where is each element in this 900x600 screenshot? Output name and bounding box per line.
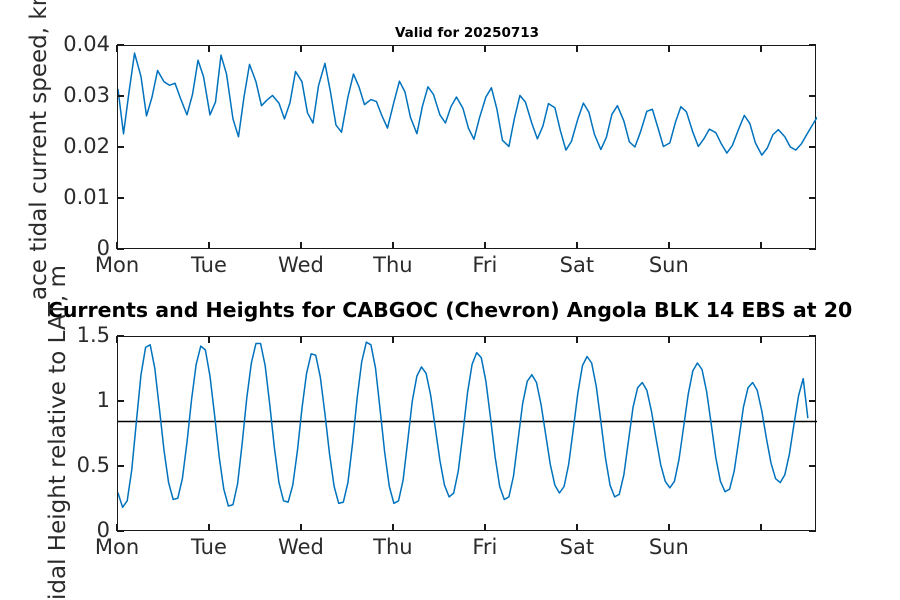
y-tick-label: 0.03: [63, 85, 110, 106]
y-tick-mark: [809, 197, 816, 199]
x-tick-mark: [760, 45, 762, 52]
x-tick-mark: [392, 524, 394, 531]
bottom-chart-plot-area: [117, 336, 816, 531]
x-tick-label: Wed: [251, 255, 351, 276]
y-tick-label: 0.02: [63, 136, 110, 157]
x-tick-label: Tue: [159, 537, 259, 558]
x-tick-mark: [300, 336, 302, 343]
x-tick-label: Wed: [251, 537, 351, 558]
x-tick-mark: [484, 242, 486, 249]
y-tick-mark: [117, 335, 124, 337]
x-tick-label: Sat: [527, 255, 627, 276]
x-tick-mark: [208, 336, 210, 343]
y-tick-mark: [117, 44, 124, 46]
y-tick-mark: [117, 197, 124, 199]
x-tick-mark: [208, 45, 210, 52]
x-tick-mark: [392, 242, 394, 249]
y-tick-mark: [117, 400, 124, 402]
y-tick-mark: [117, 95, 124, 97]
y-tick-mark: [117, 530, 124, 532]
x-tick-label: Thu: [343, 255, 443, 276]
top-chart-plot-area: [117, 45, 816, 249]
x-tick-mark: [484, 45, 486, 52]
x-tick-mark: [576, 336, 578, 343]
x-tick-mark: [300, 524, 302, 531]
x-tick-label: Thu: [343, 537, 443, 558]
x-tick-mark: [760, 336, 762, 343]
x-tick-mark: [392, 336, 394, 343]
x-tick-mark: [668, 524, 670, 531]
x-tick-mark: [484, 524, 486, 531]
x-tick-mark: [392, 45, 394, 52]
x-tick-label: Sun: [619, 537, 719, 558]
y-tick-mark: [809, 95, 816, 97]
y-tick-mark: [809, 44, 816, 46]
y-tick-mark: [809, 465, 816, 467]
y-tick-mark: [809, 530, 816, 532]
y-tick-mark: [117, 248, 124, 250]
y-tick-mark: [117, 465, 124, 467]
y-tick-mark: [809, 248, 816, 250]
x-tick-mark: [300, 45, 302, 52]
x-tick-label: Mon: [67, 537, 167, 558]
figure-canvas: ace tidal current speed, kn Valid for 20…: [0, 0, 900, 600]
x-tick-label: Fri: [435, 537, 535, 558]
x-tick-mark: [116, 336, 118, 343]
x-tick-label: Tue: [159, 255, 259, 276]
figure-main-title: Currents and Heights for CABGOC (Chevron…: [48, 300, 852, 321]
x-tick-mark: [208, 524, 210, 531]
x-tick-label: Sat: [527, 537, 627, 558]
top-chart-series-line: [118, 46, 817, 250]
x-tick-mark: [668, 242, 670, 249]
x-tick-mark: [576, 242, 578, 249]
x-tick-mark: [576, 524, 578, 531]
top-chart-ylabel: ace tidal current speed, kn: [28, 0, 51, 300]
bottom-chart-series-line: [118, 337, 817, 532]
y-tick-label: 0.5: [77, 455, 110, 476]
x-tick-mark: [576, 45, 578, 52]
y-tick-label: 1.5: [77, 325, 110, 346]
x-tick-label: Sun: [619, 255, 719, 276]
x-tick-mark: [300, 242, 302, 249]
y-tick-mark: [809, 400, 816, 402]
y-tick-label: 0.01: [63, 187, 110, 208]
y-tick-label: 0.04: [63, 34, 110, 55]
x-tick-mark: [116, 524, 118, 531]
x-tick-mark: [668, 336, 670, 343]
x-tick-label: Fri: [435, 255, 535, 276]
x-tick-mark: [208, 242, 210, 249]
x-tick-mark: [116, 242, 118, 249]
y-tick-mark: [117, 146, 124, 148]
x-tick-mark: [760, 242, 762, 249]
x-tick-label: Mon: [67, 255, 167, 276]
y-tick-mark: [809, 335, 816, 337]
x-tick-mark: [760, 524, 762, 531]
top-chart-title: Valid for 20250713: [117, 27, 817, 41]
y-tick-label: 1: [97, 390, 110, 411]
x-tick-mark: [484, 336, 486, 343]
x-tick-mark: [668, 45, 670, 52]
x-tick-mark: [116, 45, 118, 52]
y-tick-mark: [809, 146, 816, 148]
